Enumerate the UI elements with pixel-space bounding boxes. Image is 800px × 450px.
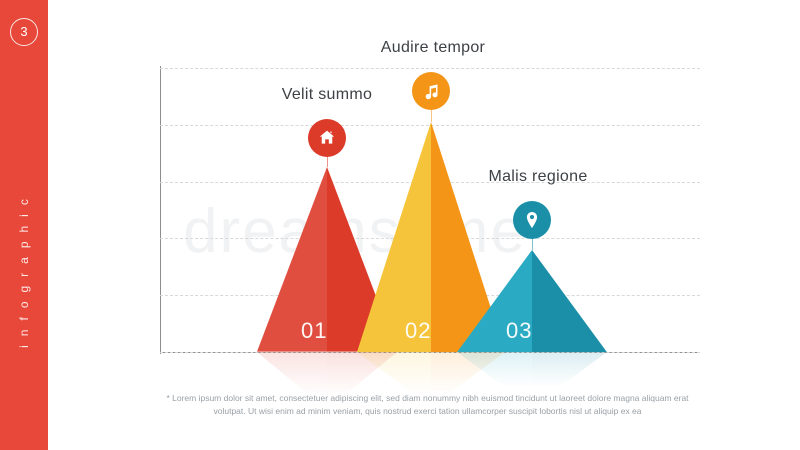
series-title-02: Audire tempor bbox=[381, 39, 485, 57]
triangle-number-02: 02 bbox=[405, 318, 431, 344]
marker-stem-03 bbox=[532, 239, 533, 250]
series-title-03: Malis regione bbox=[488, 168, 587, 186]
home-icon[interactable] bbox=[308, 119, 346, 157]
triangle-number-01: 01 bbox=[301, 318, 327, 344]
triangle-number-03: 03 bbox=[506, 318, 532, 344]
triangle-reflection-03 bbox=[457, 352, 607, 388]
footnote: * Lorem ipsum dolor sit amet, consectetu… bbox=[155, 392, 700, 418]
infographic-canvas: 3 infographic dreamstime 100806040200 01… bbox=[0, 0, 800, 450]
music-note-icon[interactable] bbox=[412, 72, 450, 110]
map-pin-icon[interactable] bbox=[513, 201, 551, 239]
series-title-01: Velit summo bbox=[282, 86, 372, 104]
marker-stem-01 bbox=[327, 157, 328, 167]
marker-stem-02 bbox=[431, 110, 432, 122]
